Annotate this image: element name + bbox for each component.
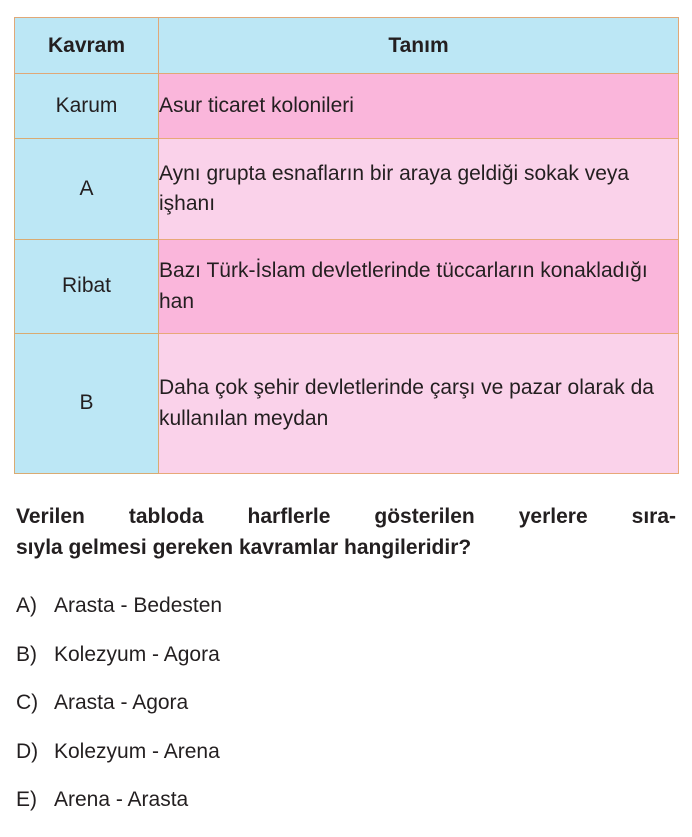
table-row: Ribat Bazı Türk-İslam devletlerinde tücc…	[15, 240, 679, 334]
table-row: B Daha çok şehir devletlerinde çarşı ve …	[15, 334, 679, 474]
table-header-kavram: Kavram	[15, 18, 159, 74]
term-cell-karum: Karum	[15, 74, 159, 139]
question-page: Kavram Tanım Karum Asur ticaret kolonile…	[0, 0, 692, 827]
question-stem: Verilen tabloda harflerle gösterilen yer…	[16, 502, 676, 563]
answer-option-text: Kolezyum - Agora	[54, 643, 676, 667]
table-body: Karum Asur ticaret kolonileri A Aynı gru…	[15, 74, 679, 474]
answer-option-letter: C)	[16, 691, 54, 715]
definition-text: Asur ticaret kolonileri	[159, 91, 678, 121]
answer-options-list: A) Arasta - Bedesten B) Kolezyum - Agora…	[16, 594, 676, 837]
definition-cell-ribat: Bazı Türk-İslam devletlerinde tüccarları…	[159, 240, 679, 334]
answer-option-letter: B)	[16, 643, 54, 667]
answer-option-b[interactable]: B) Kolezyum - Agora	[16, 643, 676, 692]
term-cell-ribat: Ribat	[15, 240, 159, 334]
answer-option-c[interactable]: C) Arasta - Agora	[16, 691, 676, 740]
table-header-tanim: Tanım	[159, 18, 679, 74]
answer-option-letter: D)	[16, 740, 54, 764]
definition-cell-karum: Asur ticaret kolonileri	[159, 74, 679, 139]
question-line-1: Verilen tabloda harflerle gösterilen yer…	[16, 502, 676, 533]
answer-option-text: Arena - Arasta	[54, 788, 676, 812]
term-cell-a: A	[15, 139, 159, 240]
table-row: A Aynı grupta esnafların bir araya geldi…	[15, 139, 679, 240]
answer-option-e[interactable]: E) Arena - Arasta	[16, 788, 676, 837]
concept-definition-table: Kavram Tanım Karum Asur ticaret kolonile…	[14, 17, 679, 474]
answer-option-text: Kolezyum - Arena	[54, 740, 676, 764]
definition-text: Aynı grupta esnafların bir araya geldiği…	[159, 159, 678, 220]
answer-option-letter: E)	[16, 788, 54, 812]
definition-text: Bazı Türk-İslam devletlerinde tüccarları…	[159, 256, 678, 317]
question-line-2: sıyla gelmesi gereken kavramlar hangiler…	[16, 533, 676, 564]
answer-option-d[interactable]: D) Kolezyum - Arena	[16, 740, 676, 789]
term-cell-b: B	[15, 334, 159, 474]
table-header: Kavram Tanım	[15, 18, 679, 74]
table-header-row: Kavram Tanım	[15, 18, 679, 74]
definition-cell-b: Daha çok şehir devletlerinde çarşı ve pa…	[159, 334, 679, 474]
answer-option-a[interactable]: A) Arasta - Bedesten	[16, 594, 676, 643]
answer-option-text: Arasta - Bedesten	[54, 594, 676, 618]
answer-option-letter: A)	[16, 594, 54, 618]
definition-text: Daha çok şehir devletlerinde çarşı ve pa…	[159, 373, 678, 434]
definition-cell-a: Aynı grupta esnafların bir araya geldiği…	[159, 139, 679, 240]
answer-option-text: Arasta - Agora	[54, 691, 676, 715]
table-row: Karum Asur ticaret kolonileri	[15, 74, 679, 139]
